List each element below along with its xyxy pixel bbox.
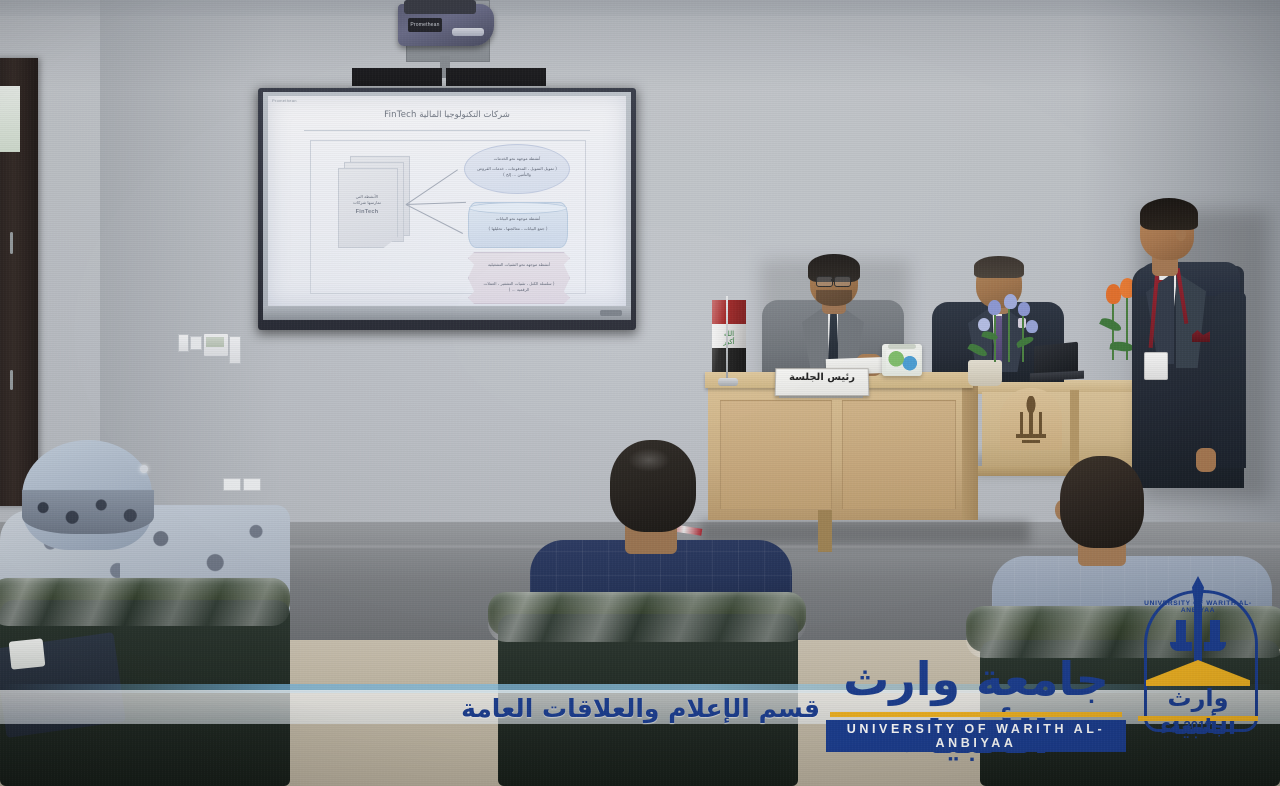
table-leg bbox=[818, 510, 832, 552]
presenter-hand bbox=[1196, 448, 1216, 472]
wordmark-gold-rule bbox=[830, 712, 1122, 717]
crest-founding-year: 2017 bbox=[1130, 718, 1266, 733]
slide-node-services: أنشطة موجهة نحو الخدمات ( تمويل التمويل … bbox=[464, 144, 570, 194]
power-socket-right[interactable] bbox=[243, 478, 261, 491]
nameplate: رئيس الجلسة bbox=[775, 368, 870, 396]
podium-trim-left bbox=[1070, 390, 1079, 472]
whiteboard-pen[interactable] bbox=[600, 310, 622, 316]
chairman-beard bbox=[816, 290, 852, 306]
slide-source-label-2: تمارسها شركات bbox=[338, 200, 396, 206]
flag-pole bbox=[726, 296, 728, 380]
chairman-glasses-right bbox=[834, 276, 851, 287]
door-vision-panel bbox=[0, 86, 20, 152]
presenter-id-badge bbox=[1144, 352, 1168, 380]
light-switch-secondary[interactable] bbox=[190, 336, 202, 350]
presenter-arm bbox=[1212, 292, 1246, 468]
podium-crest-carving bbox=[1012, 396, 1050, 444]
whiteboard-brand-label: Promethean bbox=[272, 98, 297, 103]
table-front-panel-left bbox=[720, 400, 832, 510]
slide-title: شركات التكنولوجيا المالية FinTech bbox=[268, 110, 626, 120]
tissue-box-artwork bbox=[886, 350, 920, 372]
slide-node-data-body: ( جمع البيانات ، معالجتها ، تحليلها ) bbox=[469, 226, 567, 232]
university-wordmark: جامعة وارث الأنبياء UNIVERSITY OF WARITH… bbox=[826, 650, 1126, 754]
slide-node-data: أنشطة موجهة نحو البيانات ( جمع البيانات … bbox=[468, 202, 568, 248]
door-handle[interactable] bbox=[10, 232, 13, 254]
university-crest-logo: UNIVERSITY OF WARITH AL-ANBIYAA وارث الأ… bbox=[1130, 576, 1266, 756]
tissue-box-opening bbox=[888, 344, 916, 349]
slide-title-rule bbox=[304, 130, 590, 131]
panel-member-hair bbox=[974, 256, 1024, 278]
wall-speaker-right bbox=[446, 68, 546, 86]
projector-top-shell bbox=[404, 0, 476, 14]
conference-photo: Promethean شركات التكنولوجيا المالية Fin… bbox=[0, 0, 1280, 786]
door-handle-lower[interactable] bbox=[10, 370, 13, 390]
whiteboard-pen-tray[interactable] bbox=[263, 306, 631, 320]
flower-arrangement bbox=[960, 276, 1160, 372]
flag-base bbox=[718, 378, 738, 386]
university-name-english: UNIVERSITY OF WARITH AL-ANBIYAA bbox=[826, 720, 1126, 752]
audience-right-head bbox=[1060, 456, 1144, 548]
chairman-glasses-left bbox=[816, 276, 833, 287]
audience-center-head-highlight bbox=[628, 448, 670, 472]
slide-node-data-title: أنشطة موجهة نحو البيانات bbox=[469, 216, 567, 222]
slide-node-tech: أنشطة موجهة نحو التقنيات التشغيلية ( سلس… bbox=[468, 252, 570, 304]
power-socket-left[interactable] bbox=[223, 478, 241, 491]
chairman-glasses-bridge bbox=[831, 279, 835, 281]
projector-lens bbox=[452, 28, 484, 36]
wall-switch-plate[interactable] bbox=[229, 336, 241, 364]
wall-left-shading bbox=[100, 0, 280, 520]
table-front-panel-right bbox=[842, 400, 956, 510]
flag-drape-shading bbox=[712, 300, 746, 372]
projection-screen[interactable]: شركات التكنولوجيا المالية FinTech الأنشط… bbox=[268, 96, 626, 306]
presenter-hair bbox=[1140, 198, 1198, 230]
slide-node-tech-title: أنشطة موجهة نحو التقنيات التشغيلية bbox=[469, 262, 569, 268]
slide-node-services-title: أنشطة موجهة نحو الخدمات bbox=[465, 156, 569, 162]
slide-source-label-fintech: FinTech bbox=[338, 209, 396, 215]
audience-woman-hijab-band bbox=[22, 490, 154, 534]
projector-brand-label: Promethean bbox=[408, 18, 442, 32]
department-caption: قسم الإعلام والعلاقات العامة bbox=[420, 694, 820, 723]
nameplate-text: رئيس الجلسة bbox=[776, 372, 868, 383]
slide-node-services-body: ( تمويل التمويل ، المدفوعات ، خدمات القر… bbox=[465, 166, 569, 178]
light-switch[interactable] bbox=[178, 334, 189, 352]
audience-left-tissue bbox=[9, 638, 46, 669]
thermostat-display bbox=[206, 337, 224, 347]
crest-pillar bbox=[1194, 604, 1202, 662]
slide-node-tech-body: ( سلسلة الكتل ، تقنيات التشفير ، العملات… bbox=[469, 281, 569, 293]
table-side-panel bbox=[962, 380, 978, 520]
audience-woman-hijab-pin bbox=[140, 465, 148, 473]
crest-hook-left bbox=[1170, 642, 1192, 651]
wall-speaker-left bbox=[352, 68, 442, 86]
